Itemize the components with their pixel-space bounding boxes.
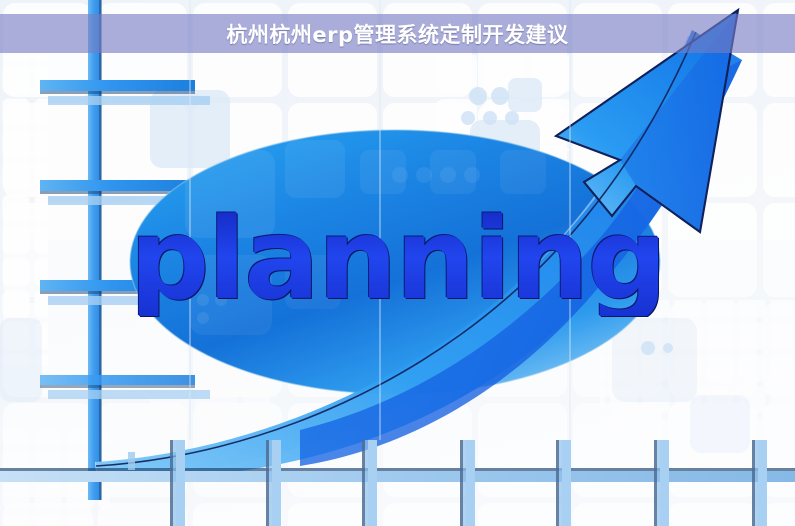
title-banner: 杭州杭州erp管理系统定制开发建议 — [0, 14, 795, 53]
poster-canvas: planning 杭州杭州erp管理系统定制开发建议 — [0, 0, 795, 526]
background-artwork — [0, 0, 795, 526]
page-title: 杭州杭州erp管理系统定制开发建议 — [226, 19, 568, 49]
horizontal-axis-icon — [0, 468, 795, 482]
vertical-axis-icon — [88, 0, 102, 500]
